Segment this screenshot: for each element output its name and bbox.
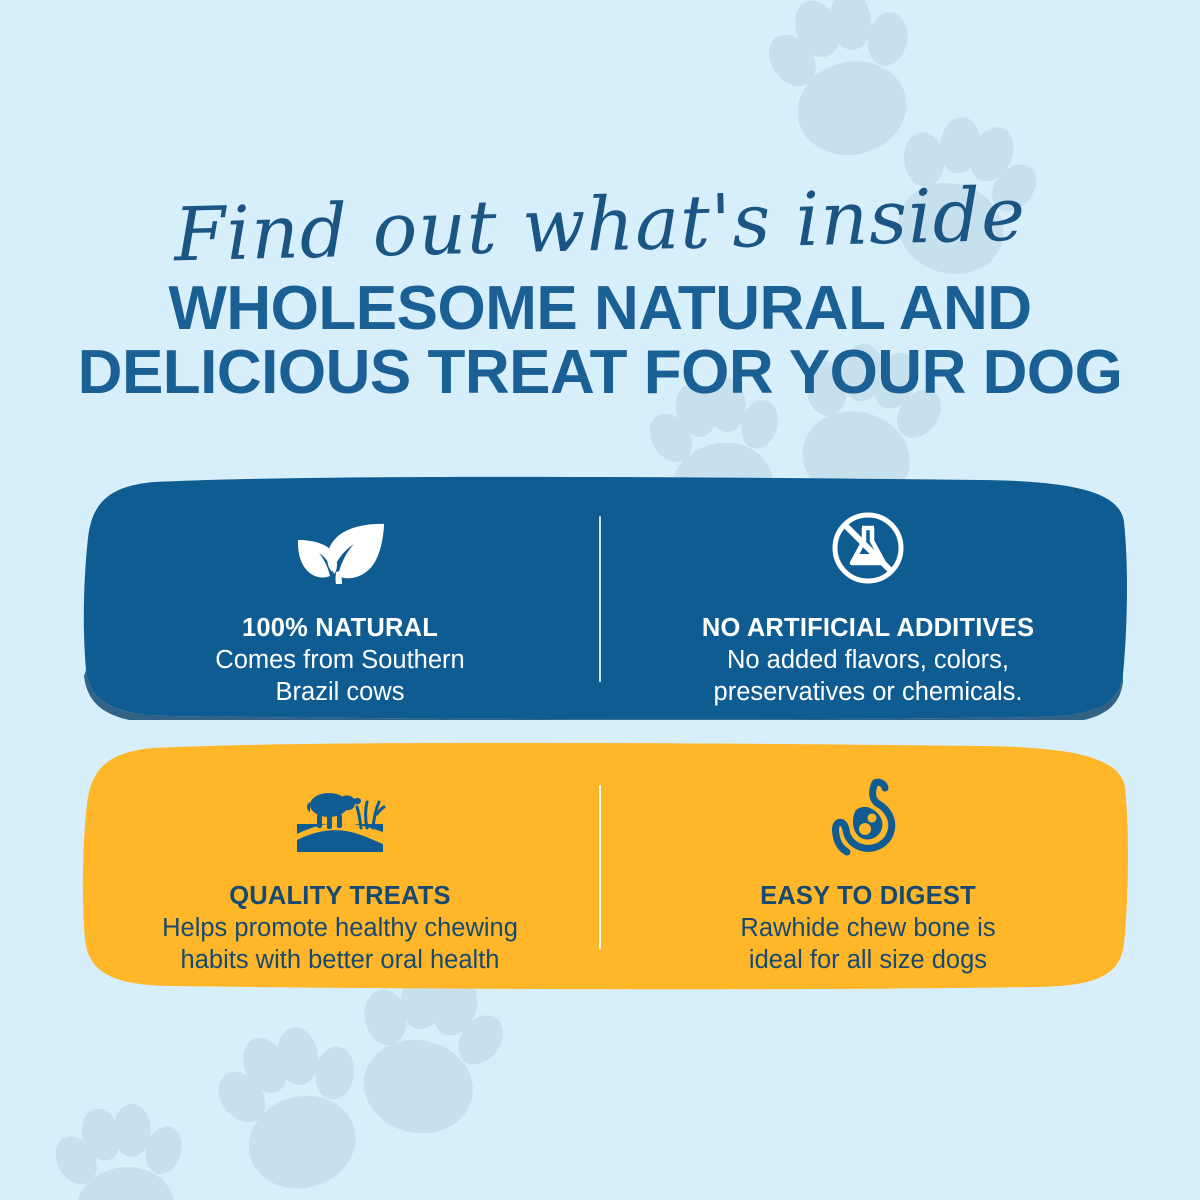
feature-title: NO ARTIFICIAL ADDITIVES [702, 614, 1034, 642]
leaves-icon [292, 508, 388, 586]
feature-title: 100% NATURAL [242, 614, 438, 642]
feature-body: Comes from Southern Brazil cows [215, 644, 464, 708]
page-headline: WHOLESOME NATURAL AND DELICIOUS TREAT FO… [0, 277, 1200, 406]
panel-divider-natural [599, 516, 601, 682]
sheep-pasture-icon [293, 778, 387, 856]
feature-cell-easy-to-digest: EASY TO DIGEST Rawhide chew bone is idea… [604, 778, 1132, 976]
feature-cell-100-natural: 100% NATURAL Comes from Southern Brazil … [76, 508, 604, 708]
feature-body: No added flavors, colors, preservatives … [714, 644, 1023, 708]
panel-divider-quality [599, 785, 601, 949]
feature-panel-quality: QUALITY TREATS Helps promote healthy che… [76, 742, 1132, 990]
stomach-icon [831, 778, 905, 856]
feature-panel-natural: 100% NATURAL Comes from Southern Brazil … [76, 474, 1132, 720]
feature-body: Helps promote healthy chewing habits wit… [162, 912, 518, 976]
feature-cell-quality-treats: QUALITY TREATS Helps promote healthy che… [76, 778, 604, 976]
no-chemicals-icon [830, 508, 906, 586]
feature-title: EASY TO DIGEST [760, 882, 976, 910]
script-eyebrow-title: Find out what's inside [0, 173, 1200, 276]
feature-body: Rawhide chew bone is ideal for all size … [740, 912, 995, 976]
feature-title: QUALITY TREATS [229, 882, 450, 910]
feature-cell-no-artificial-additives: NO ARTIFICIAL ADDITIVES No added flavors… [604, 508, 1132, 708]
